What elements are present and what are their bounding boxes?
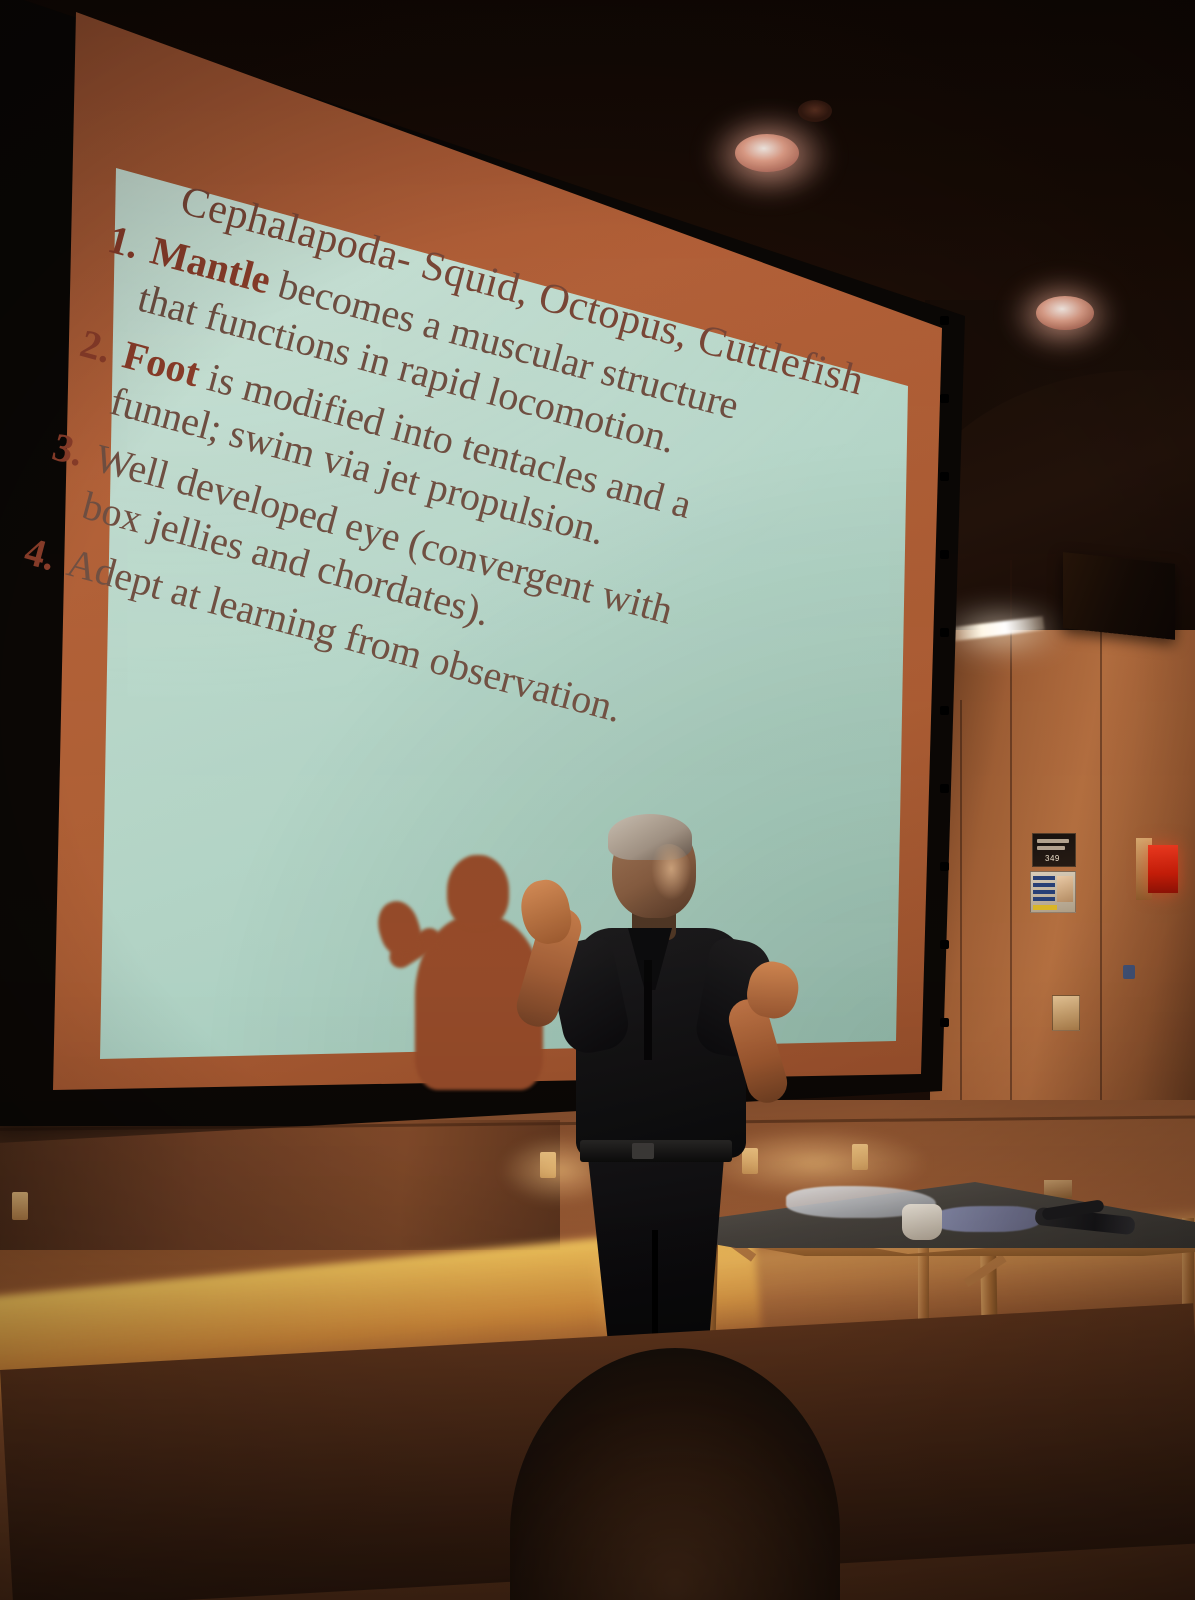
lecture-hall-photo: 349: [0, 0, 1195, 1600]
wall-speaker: [1063, 552, 1175, 640]
presenter-shirt-placket: [644, 960, 652, 1060]
room-number-text: 349: [1045, 854, 1060, 863]
room-number-plaque: 349: [1032, 833, 1076, 867]
presenter-belt-buckle: [632, 1143, 654, 1159]
presenter: [520, 810, 850, 1370]
presenter-face: [646, 844, 692, 906]
screen-grommets-right: [940, 316, 958, 1076]
presenter-belt: [580, 1140, 732, 1162]
wall-sensor: [1123, 965, 1135, 979]
wall-joint: [1100, 600, 1102, 1160]
wall-flyer: [1030, 871, 1076, 913]
wall-outlet: [12, 1192, 28, 1220]
ceiling-light-3: [1036, 296, 1094, 330]
wall-jack-panel: [1052, 995, 1080, 1031]
cloth: [930, 1206, 1040, 1232]
specimen-cup: [902, 1204, 942, 1240]
exit-sign: [1148, 845, 1178, 893]
